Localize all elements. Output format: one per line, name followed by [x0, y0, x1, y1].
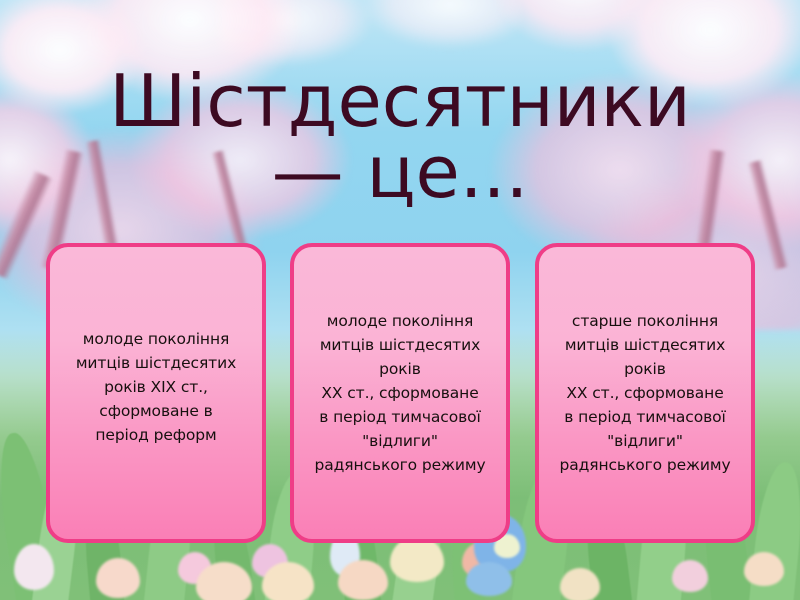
definition-card-1[interactable]: молоде покоління митців шістдесятих рокі…: [46, 243, 266, 543]
definition-card-3[interactable]: старше покоління митців шістдесятих рокі…: [535, 243, 755, 543]
definition-card-2[interactable]: молоде покоління митців шістдесятих рокі…: [290, 243, 510, 543]
flower-blossom: [96, 558, 140, 598]
flower-blossom: [560, 568, 600, 600]
flower-blossom: [744, 552, 784, 586]
definition-card-1-text: молоде покоління митців шістдесятих рокі…: [50, 327, 262, 447]
flower-blossom: [466, 562, 512, 596]
definition-card-3-text: старше покоління митців шістдесятих рокі…: [539, 309, 751, 477]
card-row: молоде покоління митців шістдесятих рокі…: [0, 243, 800, 545]
flower-blossom: [338, 560, 388, 600]
definition-card-2-text: молоде покоління митців шістдесятих рокі…: [294, 309, 506, 477]
presentation-slide: Шістдесятники — це... молоде покоління м…: [0, 0, 800, 600]
page-title: Шістдесятники — це...: [0, 66, 800, 207]
flower-blossom: [672, 560, 708, 592]
flower-blossom: [14, 544, 54, 590]
